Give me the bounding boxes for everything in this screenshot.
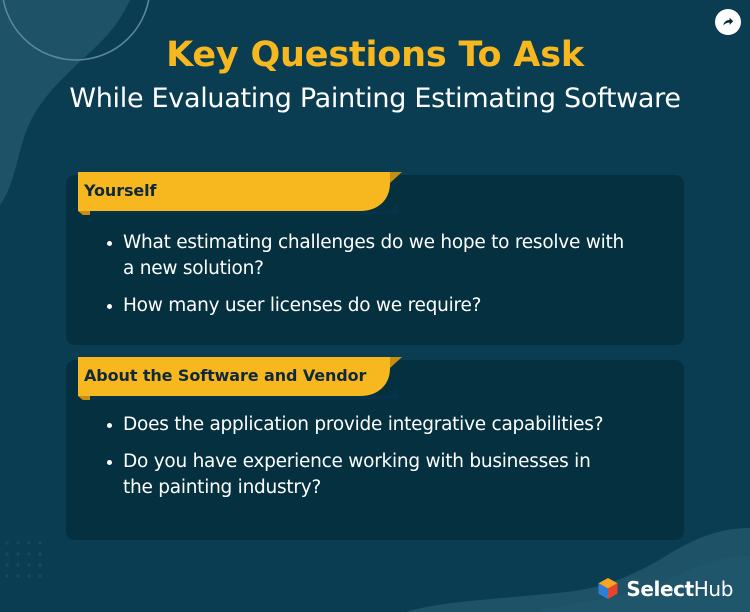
page-title: Key Questions To Ask xyxy=(0,0,750,74)
share-arrow-icon xyxy=(721,15,735,29)
logo-text-primary: Select xyxy=(626,577,693,601)
list-item: Do you have experience working with busi… xyxy=(66,449,684,501)
header: Key Questions To Ask While Evaluating Pa… xyxy=(0,0,750,113)
section-yourself: Yourself What estimating challenges do w… xyxy=(66,170,684,330)
section-banner-label: Yourself xyxy=(84,170,156,211)
section-banner-label: About the Software and Vendor xyxy=(84,355,366,396)
list-item: What estimating challenges do we hope to… xyxy=(66,230,684,282)
section-about-software-and-vendor: About the Software and Vendor Does the a… xyxy=(66,355,684,512)
selecthub-logo[interactable]: SelectHub xyxy=(597,577,733,600)
section-banner: Yourself xyxy=(56,170,406,215)
page-subtitle: While Evaluating Painting Estimating Sof… xyxy=(0,74,750,114)
share-button[interactable] xyxy=(715,9,741,35)
logo-wordmark: SelectHub xyxy=(626,579,733,599)
infographic-canvas: Key Questions To Ask While Evaluating Pa… xyxy=(0,0,750,612)
section-banner: About the Software and Vendor xyxy=(56,355,406,400)
logo-text-secondary: Hub xyxy=(694,577,733,601)
selecthub-cube-icon xyxy=(597,577,619,600)
list-item: How many user licenses do we require? xyxy=(66,293,684,319)
list-item: Does the application provide integrative… xyxy=(66,412,684,438)
